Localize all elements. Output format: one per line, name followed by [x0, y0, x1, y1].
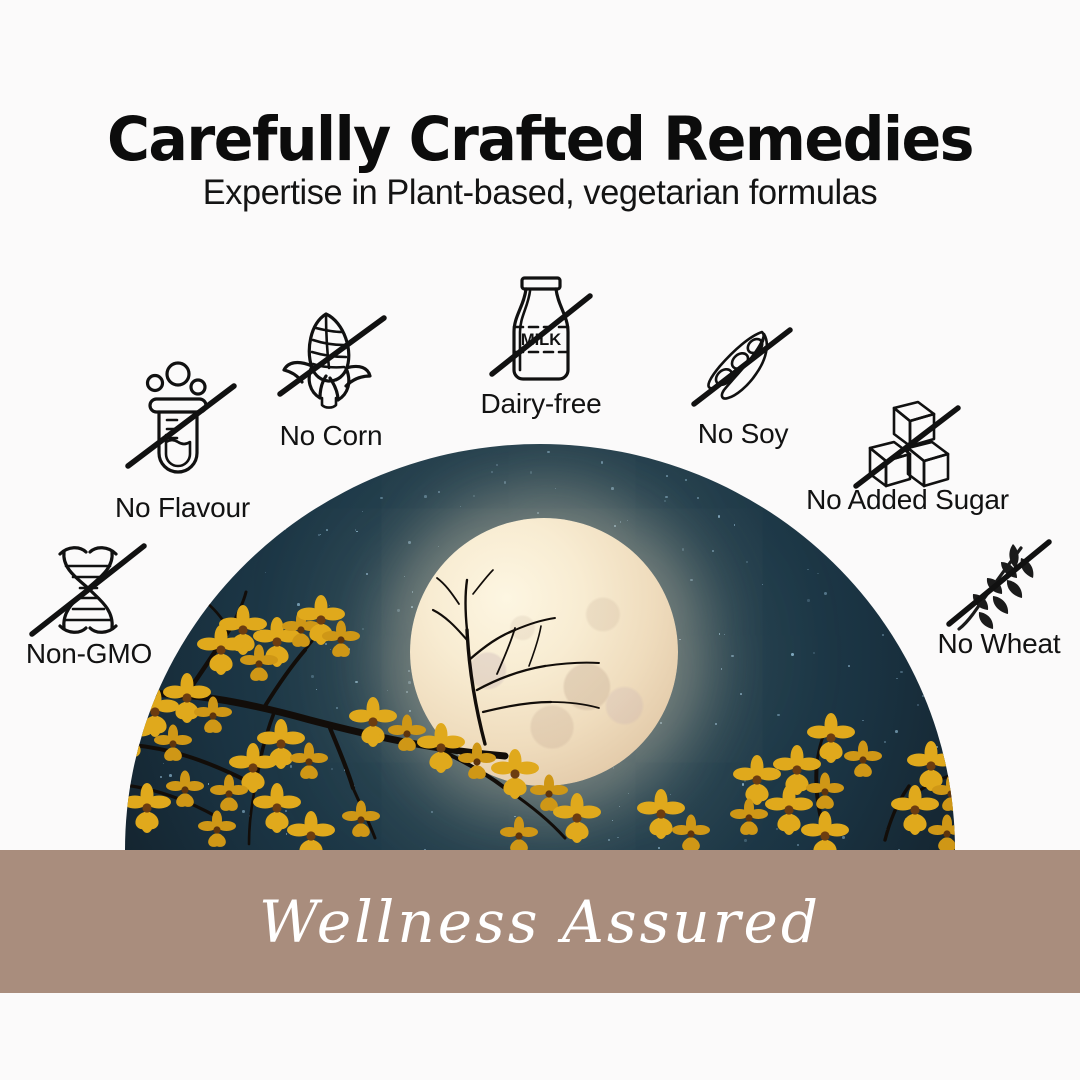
corn-icon: [272, 306, 390, 410]
poster-canvas: Carefully Crafted Remedies Expertise in …: [0, 0, 1080, 1080]
test-tube-icon: [122, 358, 244, 478]
page-title: Carefully Crafted Remedies: [22, 104, 1059, 175]
badge-label: No Corn: [280, 420, 383, 452]
badge-label: No Added Sugar: [806, 484, 1009, 516]
sugar-cubes-icon: [852, 398, 964, 496]
badge-no-flavour: No Flavour: [110, 358, 255, 528]
badge-label: No Wheat: [938, 628, 1061, 660]
badge-dairy-free: MILK Dairy-free: [480, 272, 602, 422]
milk-bottle-icon: MILK: [486, 272, 596, 390]
wheat-icon: [943, 530, 1055, 636]
dna-icon: [28, 540, 150, 640]
badge-no-wheat: No Wheat: [935, 530, 1063, 680]
soy-pod-icon: [690, 322, 796, 414]
badge-label: No Flavour: [115, 492, 250, 524]
badge-label: Non-GMO: [26, 638, 152, 670]
badge-no-added-sugar: No Added Sugar: [805, 398, 1010, 538]
footer-band: Wellness Assured: [0, 850, 1080, 993]
footer-tagline: Wellness Assured: [0, 850, 1080, 993]
badge-label: No Soy: [698, 418, 789, 450]
badge-non-gmo: Non-GMO: [20, 540, 158, 690]
badge-no-soy: No Soy: [690, 322, 796, 462]
badge-label: Dairy-free: [481, 388, 602, 420]
badge-no-corn: No Corn: [270, 306, 392, 456]
page-subtitle: Expertise in Plant-based, vegetarian for…: [11, 173, 1069, 213]
